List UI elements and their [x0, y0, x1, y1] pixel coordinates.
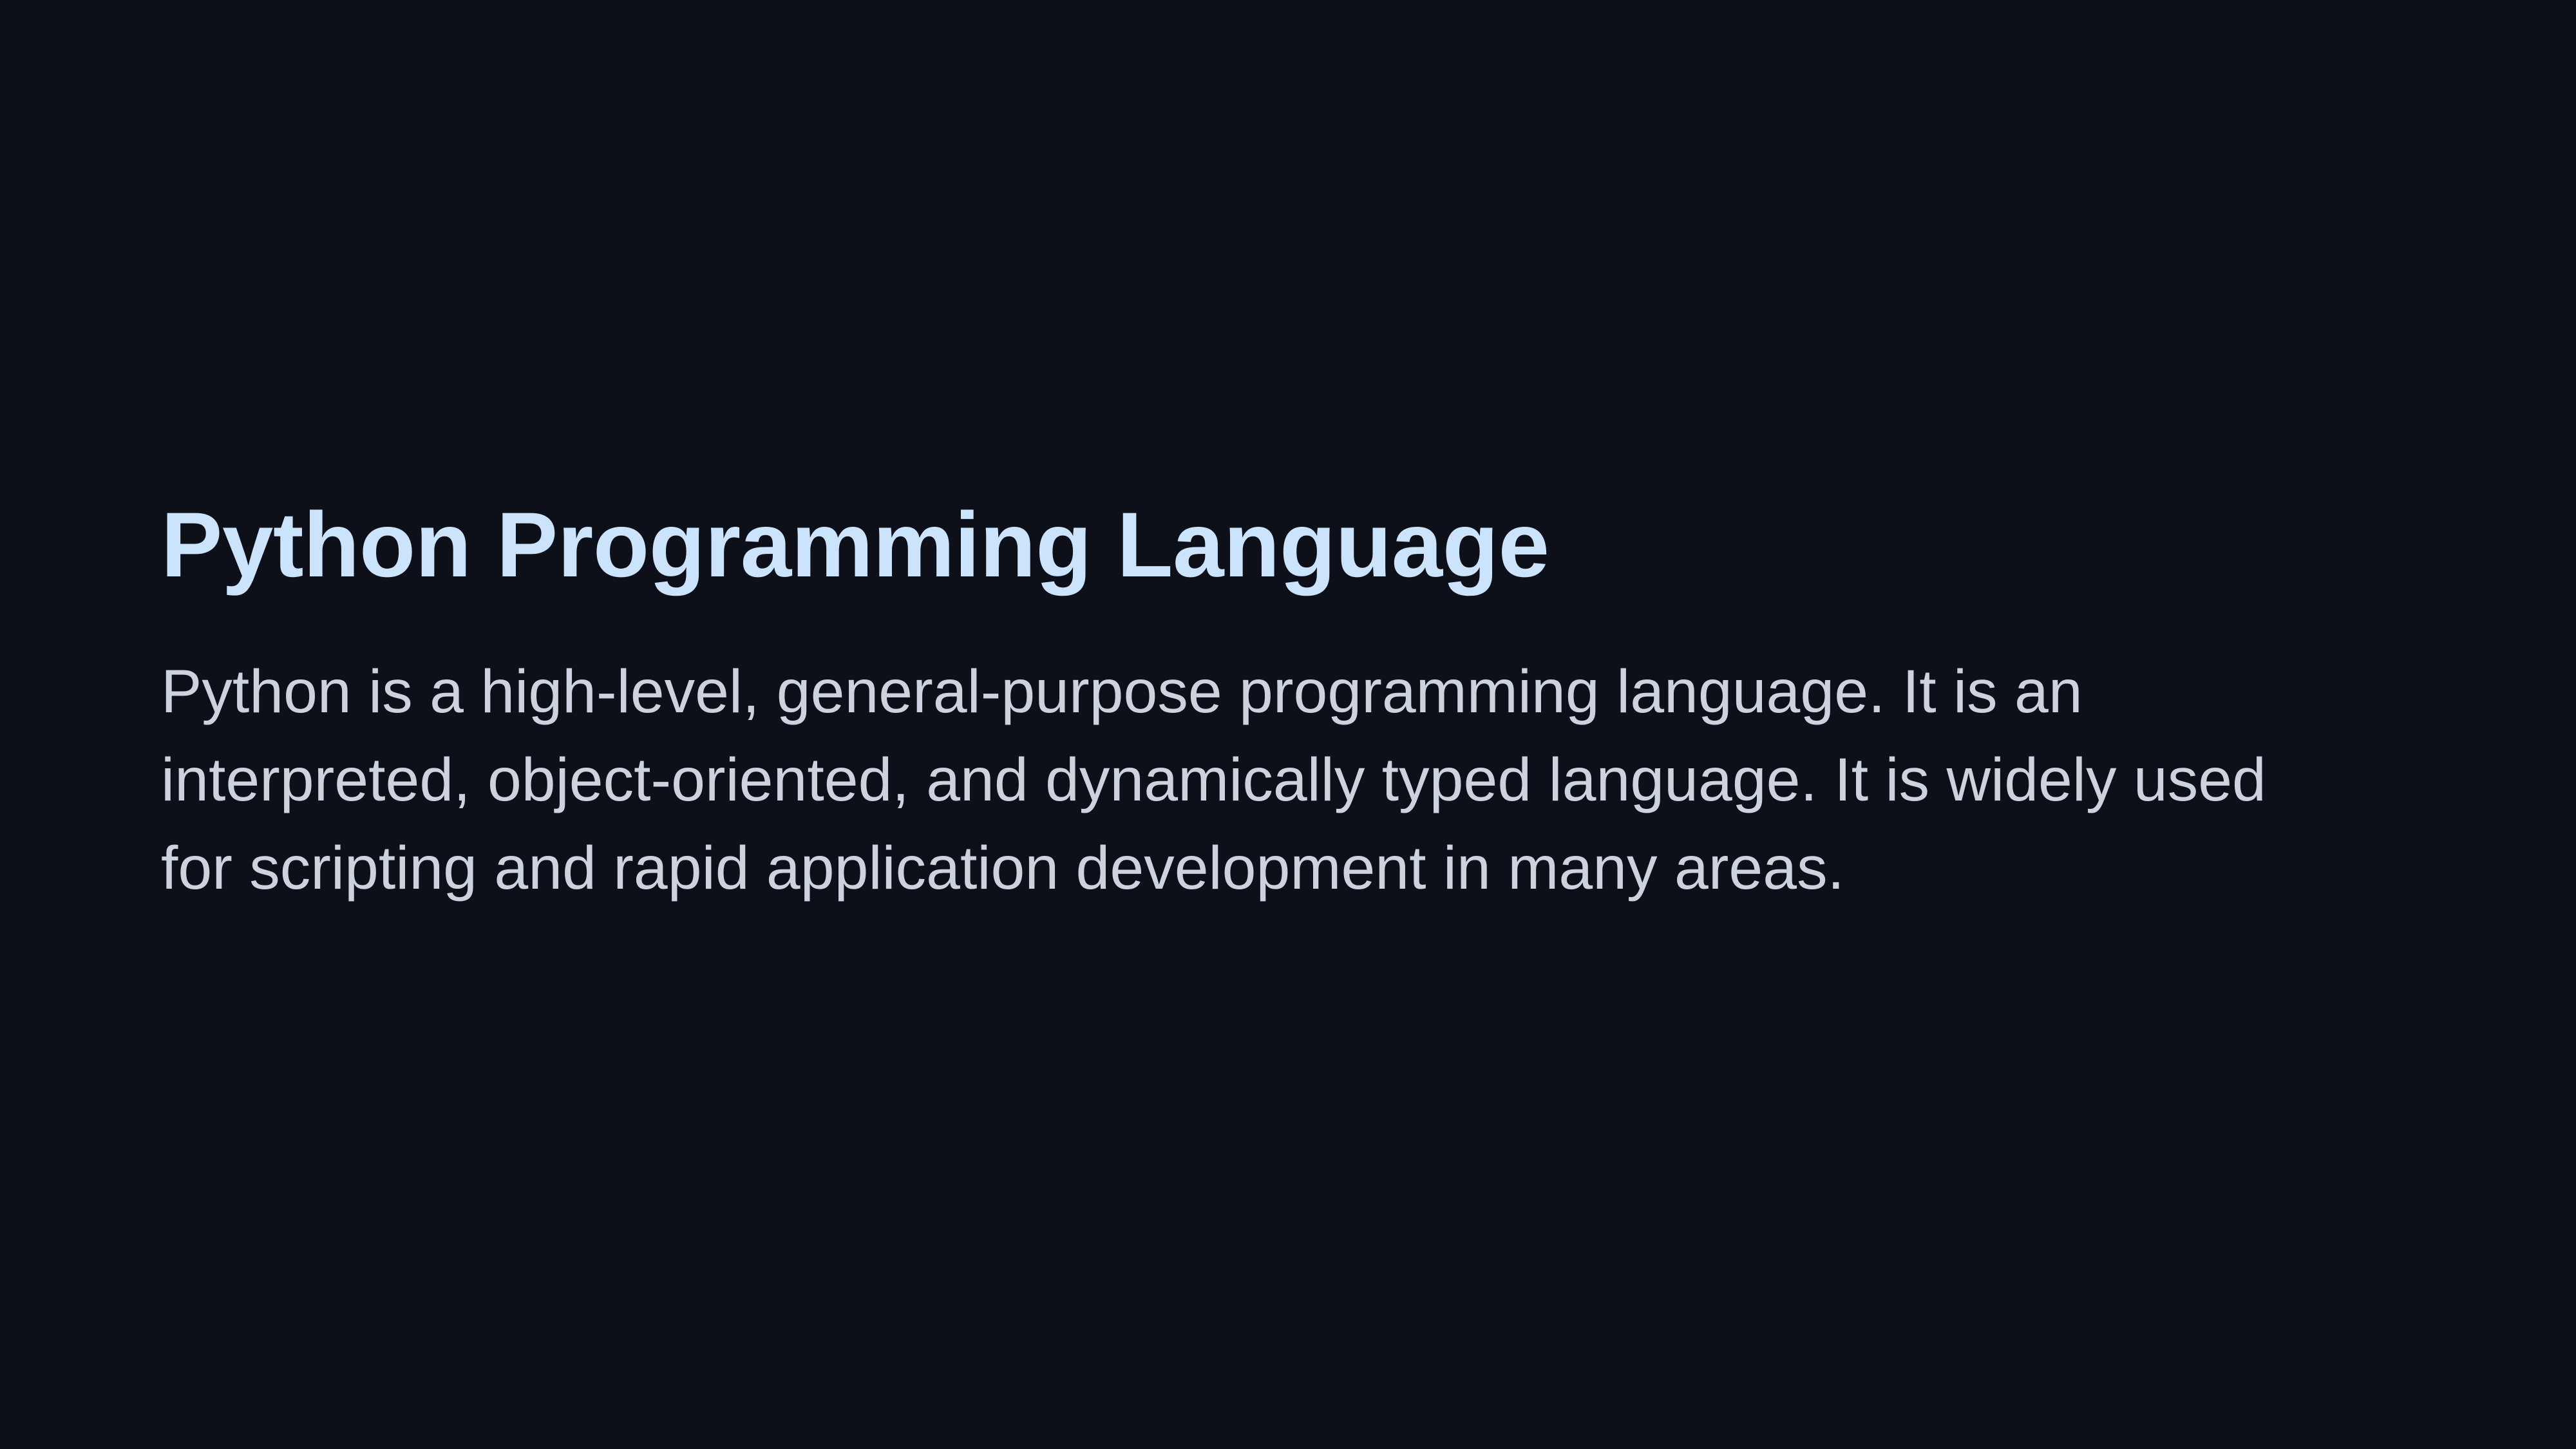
page-root: Python Programming Language Python is a …: [0, 0, 2576, 1449]
article-container: Python Programming Language Python is a …: [161, 489, 2318, 913]
page-title: Python Programming Language: [161, 489, 2318, 601]
article-description: Python is a high-level, general-purpose …: [161, 648, 2312, 913]
